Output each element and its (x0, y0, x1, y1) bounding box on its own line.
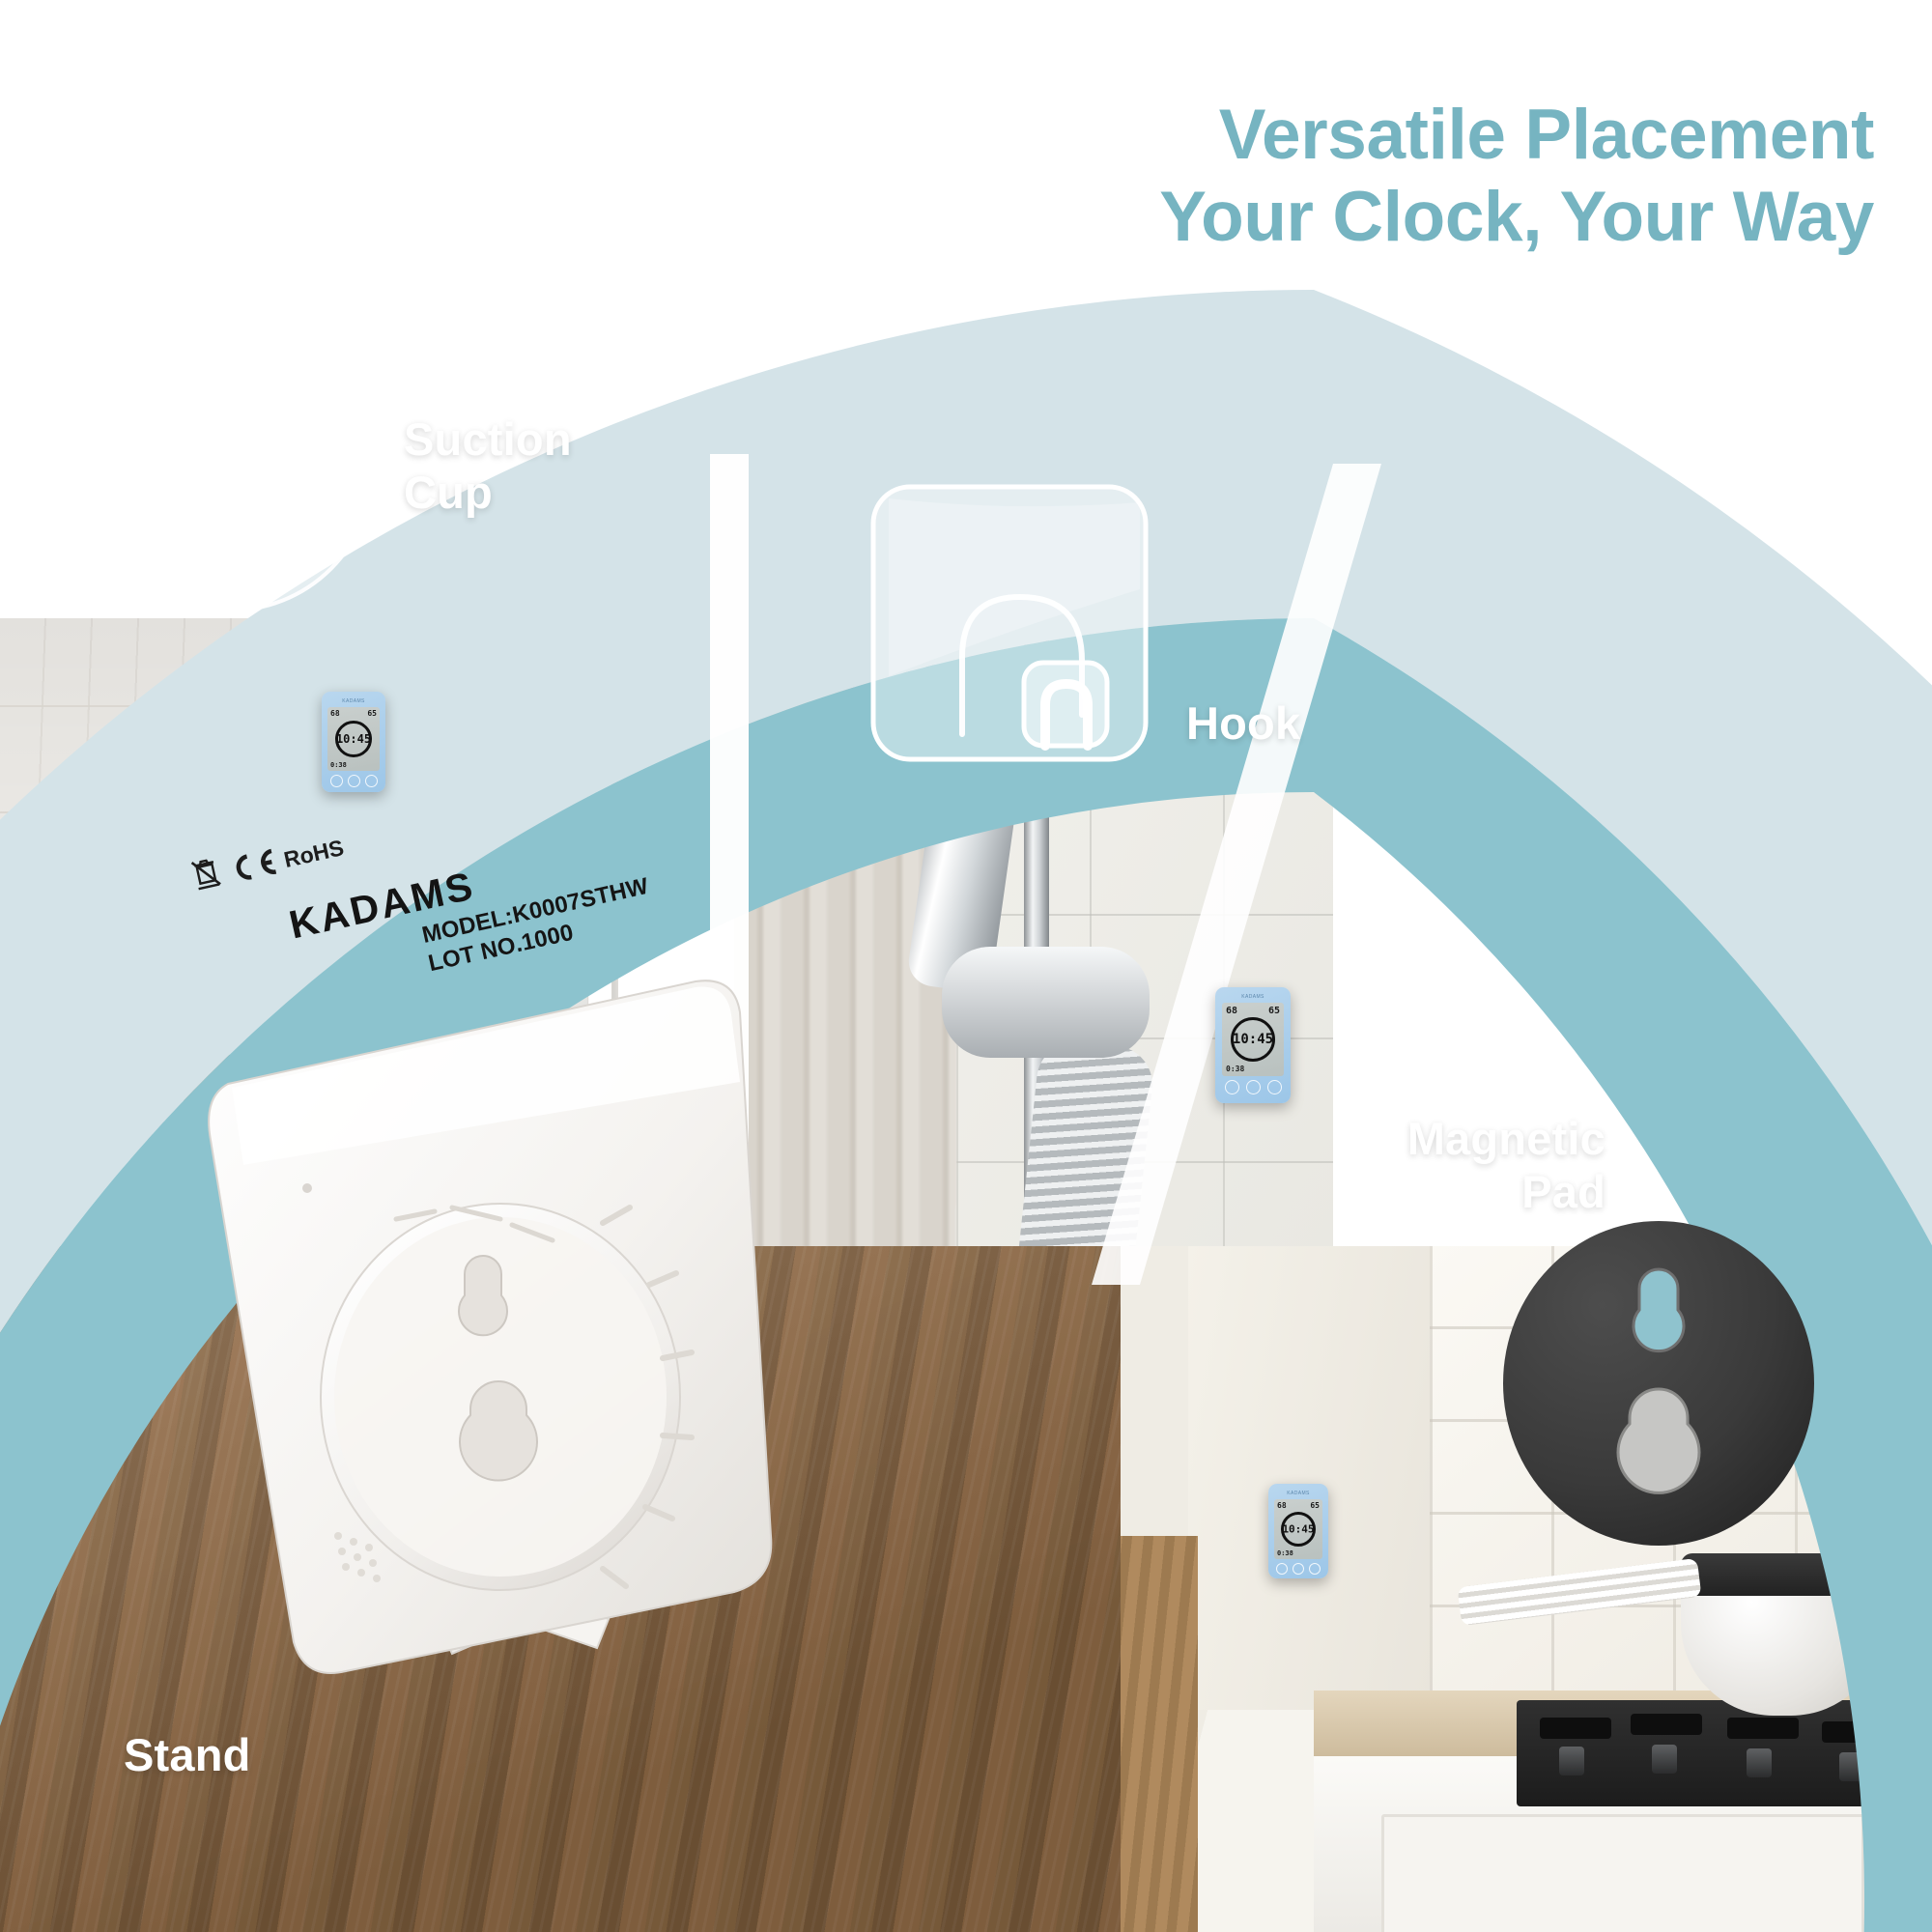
callout-line-2: Pad (1407, 1166, 1605, 1219)
set-button[interactable] (1293, 1563, 1304, 1575)
mode-button[interactable] (1276, 1563, 1288, 1575)
clock-in-kitchen-scene: KADAMS 68 65 10:45 0:38 (1268, 1484, 1328, 1578)
page-title: Versatile Placement Your Clock, Your Way (879, 95, 1874, 258)
clock-lcd: 68 65 10:45 0:38 (327, 707, 380, 771)
callout-label-stand: Stand (124, 1729, 251, 1782)
clock-lcd: 68 65 10:45 0:38 (1222, 1003, 1284, 1076)
timer-readout: 0:38 (1277, 1549, 1293, 1557)
time-readout: 10:45 (1282, 1523, 1314, 1536)
callout-label-hook: Hook (1186, 697, 1300, 751)
headline-line-1: Versatile Placement (879, 95, 1874, 177)
time-readout: 10:45 (1233, 1032, 1273, 1047)
adhesive-hook-icon (860, 473, 1159, 773)
headline-line-2: Your Clock, Your Way (879, 177, 1874, 259)
callout-label-magnetic-pad: Magnetic Pad (1407, 1113, 1605, 1219)
callout-line-1: Hook (1186, 697, 1300, 751)
power-button[interactable] (1309, 1563, 1321, 1575)
humidity-readout: 65 (367, 709, 377, 718)
callout-line-1: Stand (124, 1729, 251, 1782)
suction-cup-icon (66, 272, 394, 611)
timer-readout: 0:38 (330, 761, 347, 769)
infographic-canvas: Versatile Placement Your Clock, Your Way (0, 0, 1932, 1932)
magnetic-pad-icon (1499, 1219, 1818, 1548)
mode-button[interactable] (1225, 1080, 1239, 1094)
mode-button[interactable] (330, 775, 343, 787)
callout-label-suction-cup: Suction Cup (404, 413, 572, 520)
humidity-readout: 65 (1310, 1501, 1320, 1510)
callout-line-2: Cup (404, 467, 572, 520)
battery-latch-dot (302, 1183, 312, 1193)
temperature-readout: 68 (1277, 1501, 1287, 1510)
clock-lcd: 68 65 10:45 0:38 (1274, 1499, 1322, 1559)
temperature-readout: 68 (1226, 1006, 1237, 1016)
set-button[interactable] (348, 775, 360, 787)
callout-line-1: Magnetic (1407, 1113, 1605, 1166)
callout-line-1: Suction (404, 413, 572, 467)
clock-bezel-brand: KADAMS (1221, 994, 1285, 1000)
product-back-view: CE RoHS RoHS KADAMS MODEL:K0007STHW LOT … (193, 966, 811, 1700)
clock-bezel-brand: KADAMS (1274, 1491, 1322, 1496)
temperature-readout: 68 (330, 709, 340, 718)
time-readout: 10:45 (336, 732, 371, 746)
power-button[interactable] (1267, 1080, 1282, 1094)
humidity-readout: 65 (1268, 1006, 1280, 1016)
clock-in-shower-scene: KADAMS 68 65 10:45 0:38 (1215, 987, 1291, 1103)
clock-bezel-brand: KADAMS (327, 698, 380, 704)
power-button[interactable] (365, 775, 378, 787)
clock-in-mirror-scene: KADAMS 68 65 10:45 0:38 (322, 692, 385, 792)
timer-readout: 0:38 (1226, 1065, 1244, 1073)
set-button[interactable] (1246, 1080, 1261, 1094)
